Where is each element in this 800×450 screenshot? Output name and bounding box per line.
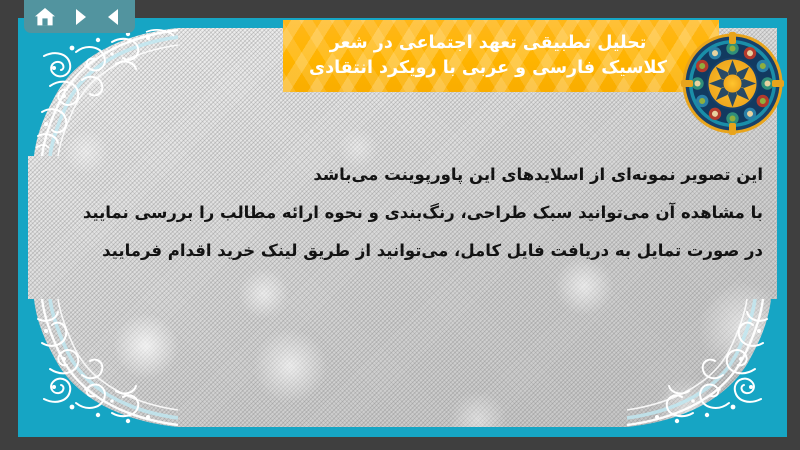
home-button[interactable] xyxy=(31,4,59,30)
previous-slide-button[interactable] xyxy=(100,4,128,30)
slide-title-line-2: کلاسیک فارسی و عربی با رویکرد انتقادی xyxy=(309,56,667,81)
slide-viewer: این تصویر نمونه‌ای از اسلایدهای این پاور… xyxy=(0,0,800,450)
arabesque-corner-ornament-bottom-left xyxy=(28,299,178,427)
presentation-slide: این تصویر نمونه‌ای از اسلایدهای این پاور… xyxy=(18,18,787,437)
body-line-1: این تصویر نمونه‌ای از اسلایدهای این پاور… xyxy=(43,156,763,194)
slide-navigation-bar xyxy=(24,0,135,33)
next-slide-button[interactable] xyxy=(66,4,94,30)
triangle-right-icon xyxy=(70,7,90,27)
body-line-2: با مشاهده آن می‌توانید سبک طراحی، رنگ‌بن… xyxy=(43,194,763,232)
body-line-3: در صورت تمایل به دریافت فایل کامل، می‌تو… xyxy=(43,232,763,270)
slide-body-text: این تصویر نمونه‌ای از اسلایدهای این پاور… xyxy=(43,156,763,270)
triangle-left-icon xyxy=(104,7,124,27)
slide-title-banner: تحلیل تطبیقی تعهد اجتماعی در شعر کلاسیک … xyxy=(283,20,719,92)
arabesque-corner-ornament-top-left xyxy=(28,28,178,156)
arabesque-corner-ornament-bottom-right xyxy=(627,299,777,427)
home-icon xyxy=(34,7,56,27)
slide-title-line-1: تحلیل تطبیقی تعهد اجتماعی در شعر xyxy=(330,31,647,56)
